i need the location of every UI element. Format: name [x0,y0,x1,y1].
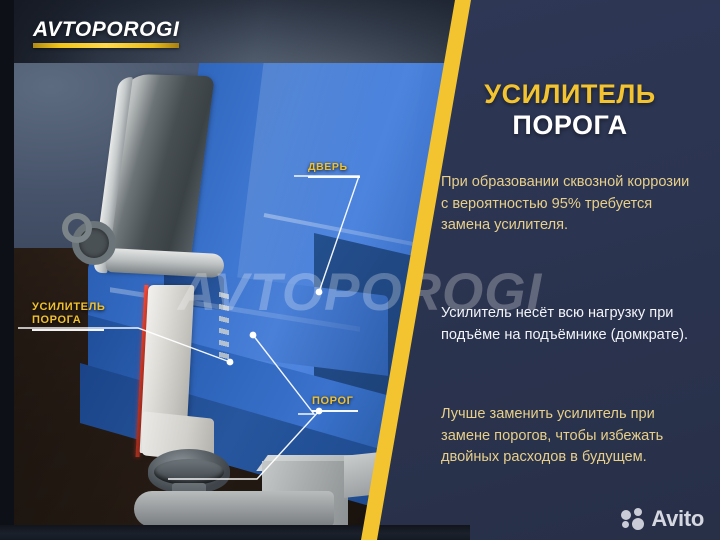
headline: УСИЛИТЕЛЬ ПОРОГА [430,79,710,141]
door-hinge-secondary-icon [62,213,92,243]
paragraph-load: Усилитель несёт всю нагрузку при подъёме… [441,303,693,346]
frame-left-edge [0,0,14,540]
avito-logo: Avito [621,508,704,530]
brand-name: AVTOPOROGI [33,19,179,40]
lift-arm [134,491,334,525]
callout-sill-label: ПОРОГ [312,395,358,408]
callout-reinforcer-label: УСИЛИТЕЛЬ ПОРОГА [32,301,105,327]
callout-sill: ПОРОГ [312,395,358,412]
headline-line-2: ПОРОГА [430,110,710,141]
callout-sill-rule [312,410,358,412]
paragraph-corrosion: При образовании сквозной коррозии с веро… [441,172,693,237]
promo-card: AVTOPOROGI [0,0,720,540]
brand-underline-bar [33,43,179,48]
lift-pad-ring [154,459,224,485]
callout-door: ДВЕРЬ [308,161,360,178]
callout-reinforcer: УСИЛИТЕЛЬ ПОРОГА [32,301,105,331]
avito-wordmark: Avito [651,508,704,530]
frame-bottom-edge [0,525,470,540]
callout-door-label: ДВЕРЬ [308,161,360,174]
paragraph-advice: Лучше заменить усилитель при замене поро… [441,404,693,469]
spot-weld-marks [219,292,229,364]
callout-door-rule [308,176,360,178]
brand-logo: AVTOPOROGI [33,19,179,48]
callout-reinforcer-rule [32,329,104,331]
avito-dots-icon [621,508,647,530]
headline-line-1: УСИЛИТЕЛЬ [430,79,710,110]
